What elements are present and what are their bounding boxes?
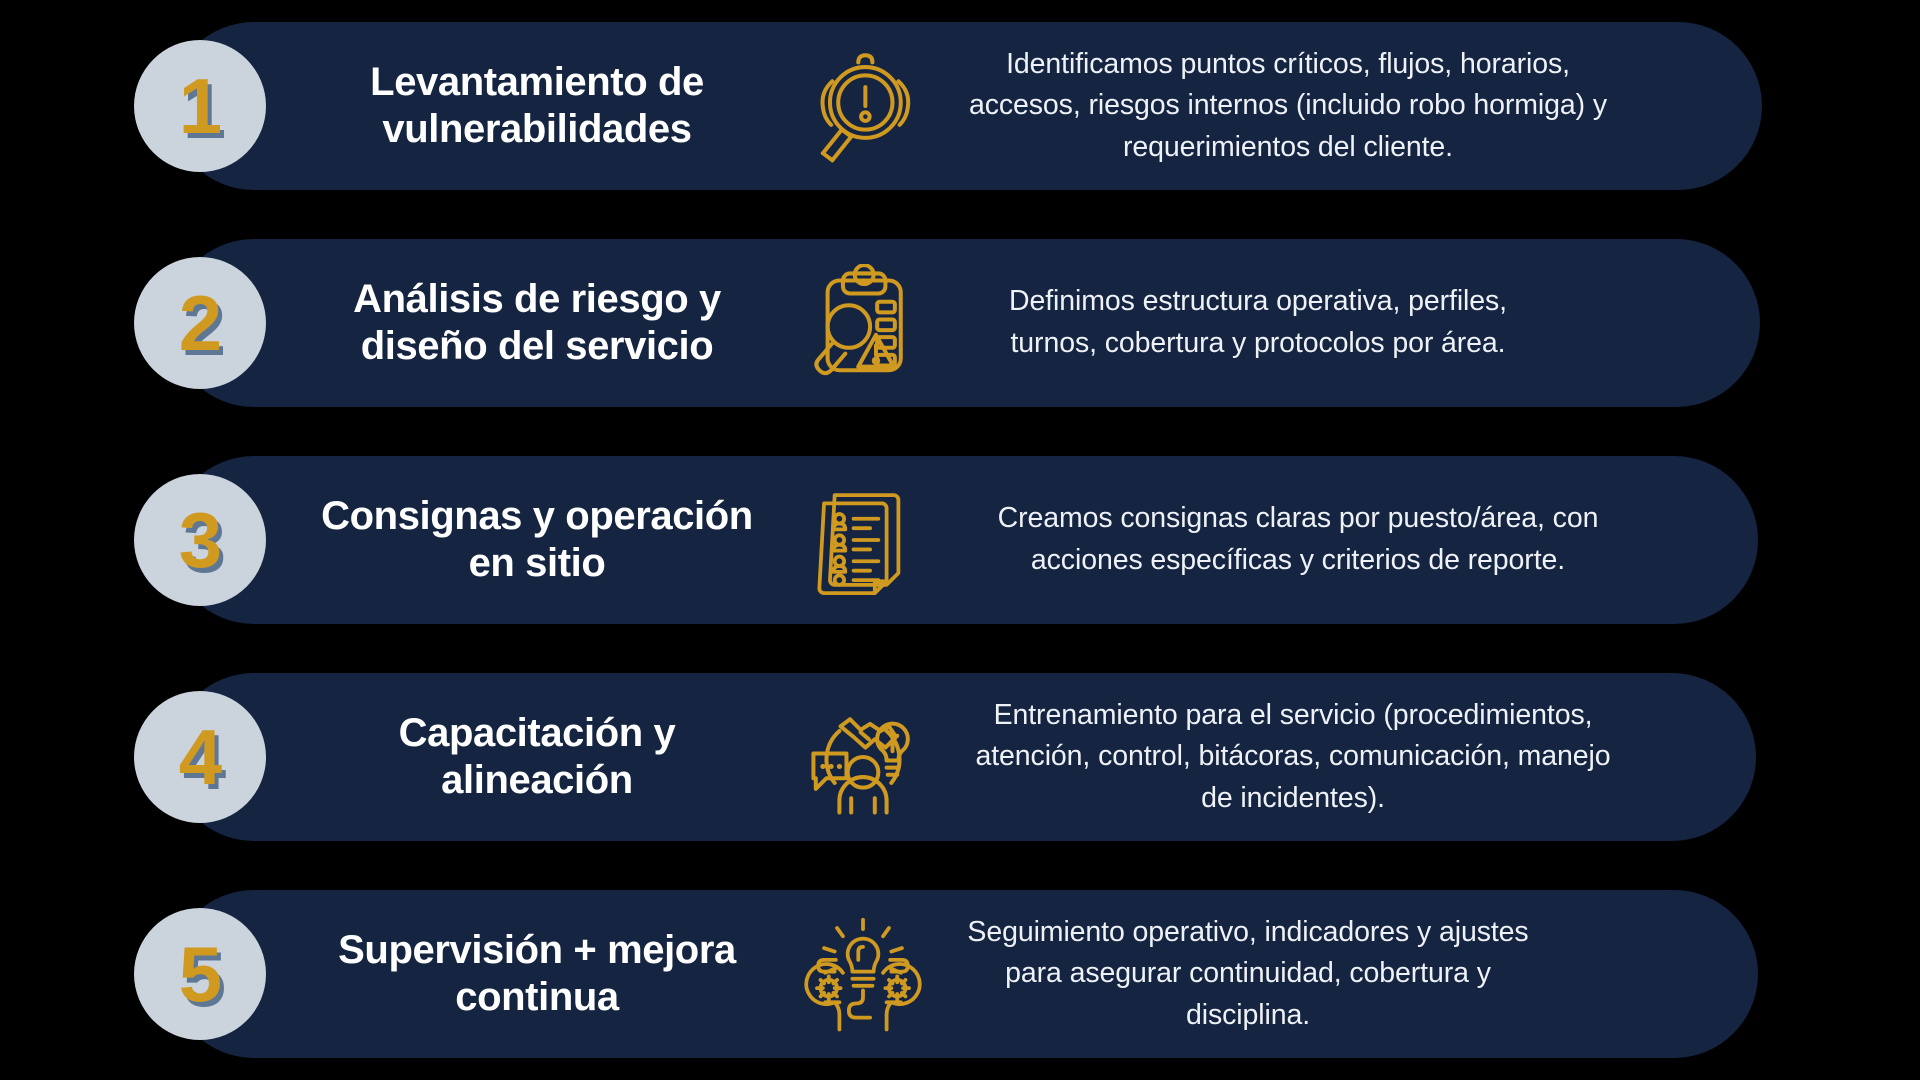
step-row-5: 5 Supervisión + mejora continua xyxy=(170,890,1758,1058)
step-row-2: 2 Análisis de riesgo y diseño del servic… xyxy=(170,239,1760,407)
continuous-improvement-idea-icon xyxy=(778,910,948,1038)
step-number-badge-2: 2 xyxy=(134,257,266,389)
training-teamwork-icon xyxy=(778,693,948,821)
step-row-4: 4 Capacitación y alineación xyxy=(170,673,1756,841)
step-description-3: Creamos consignas claras por puesto/área… xyxy=(948,498,1668,581)
magnifier-alert-icon xyxy=(778,42,948,170)
step-title-2: Análisis de riesgo y diseño del servicio xyxy=(302,276,772,370)
step-title-1: Levantamiento de vulnerabilidades xyxy=(302,59,772,153)
step-row-3: 3 Consignas y operación en sitio xyxy=(170,456,1758,624)
step-number-2: 2 xyxy=(179,284,221,362)
step-number-badge-5: 5 xyxy=(134,908,266,1040)
step-description-4: Entrenamiento para el servicio (procedim… xyxy=(948,695,1658,820)
step-number-badge-3: 3 xyxy=(134,474,266,606)
step-number-4: 4 xyxy=(179,718,221,796)
step-number-5: 5 xyxy=(179,935,221,1013)
step-description-2: Definimos estructura operativa, perfiles… xyxy=(948,281,1588,364)
step-title-4: Capacitación y alineación xyxy=(302,710,772,804)
step-description-5: Seguimiento operativo, indicadores y aju… xyxy=(948,912,1568,1037)
process-steps-infographic: 1 Levantamiento de vulnerabilidades Iden… xyxy=(0,0,1920,1080)
documents-roster-icon xyxy=(778,476,948,604)
clipboard-risk-analysis-icon xyxy=(778,259,948,387)
step-number-badge-1: 1 xyxy=(134,40,266,172)
step-number-badge-4: 4 xyxy=(134,691,266,823)
step-row-1: 1 Levantamiento de vulnerabilidades Iden… xyxy=(170,22,1762,190)
step-description-1: Identificamos puntos críticos, flujos, h… xyxy=(948,44,1648,169)
step-title-5: Supervisión + mejora continua xyxy=(302,927,772,1021)
step-number-3: 3 xyxy=(179,501,221,579)
step-number-1: 1 xyxy=(179,67,221,145)
step-title-3: Consignas y operación en sitio xyxy=(302,493,772,587)
